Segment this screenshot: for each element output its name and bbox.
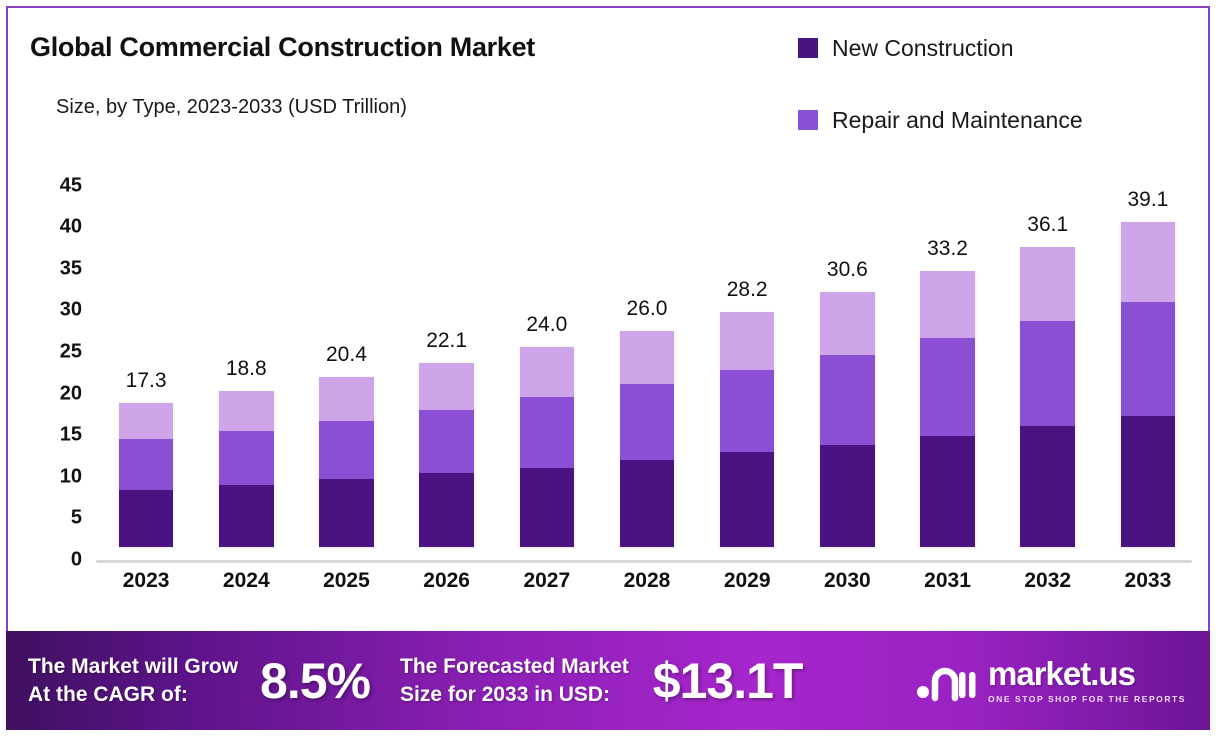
bar-segment-new-construction	[219, 485, 274, 547]
bar-segment-other	[620, 331, 675, 384]
stacked-bar[interactable]	[920, 271, 975, 547]
summary-banner: The Market will Grow At the CAGR of: 8.5…	[6, 631, 1210, 730]
bar-segment-repair-and-maintenance	[219, 431, 274, 485]
bar-segment-repair-and-maintenance	[319, 421, 374, 479]
stacked-bar[interactable]	[419, 363, 474, 547]
stacked-bar[interactable]	[1020, 247, 1075, 547]
y-axis-tick-5: 5	[34, 507, 82, 530]
y-axis-tick-25: 25	[34, 341, 82, 364]
x-axis-tick-2029: 2029	[724, 569, 771, 593]
bar-group-2030[interactable]: 30.62030	[820, 292, 875, 547]
y-axis-tick-40: 40	[34, 216, 82, 239]
bar-segment-other	[720, 312, 775, 369]
bar-group-2029[interactable]: 28.22029	[720, 312, 775, 547]
cagr-caption: The Market will Grow At the CAGR of:	[28, 653, 238, 708]
bar-value-label: 18.8	[226, 357, 267, 381]
bar-segment-repair-and-maintenance	[520, 397, 575, 468]
bar-segment-new-construction	[419, 473, 474, 547]
chart-card: Global Commercial Construction Market Si…	[6, 6, 1210, 631]
bar-value-label: 26.0	[627, 297, 668, 321]
bar-segment-repair-and-maintenance	[119, 439, 174, 490]
bar-value-label: 28.2	[727, 278, 768, 302]
bar-value-label: 17.3	[126, 369, 167, 393]
forecast-caption-line1: The Forecasted Market	[400, 653, 629, 680]
bar-group-2028[interactable]: 26.02028	[620, 331, 675, 547]
x-axis-tick-2030: 2030	[824, 569, 871, 593]
bar-segment-new-construction	[520, 468, 575, 547]
stacked-bar[interactable]	[119, 403, 174, 547]
bar-segment-new-construction	[1121, 416, 1176, 547]
stacked-bar[interactable]	[319, 377, 374, 547]
logo-name: market.us	[988, 657, 1186, 690]
market-us-logo-icon	[916, 659, 976, 703]
x-axis-tick-2026: 2026	[423, 569, 470, 593]
cagr-caption-line2: At the CAGR of:	[28, 681, 238, 708]
logo-tagline: ONE STOP SHOP FOR THE REPORTS	[988, 694, 1186, 704]
x-axis-tick-2032: 2032	[1024, 569, 1071, 593]
bar-segment-new-construction	[620, 460, 675, 547]
stacked-bar[interactable]	[620, 331, 675, 547]
bar-value-label: 22.1	[426, 329, 467, 353]
bar-segment-new-construction	[720, 452, 775, 547]
bar-segment-other	[920, 271, 975, 338]
bar-value-label: 33.2	[927, 237, 968, 261]
bar-segment-new-construction	[920, 436, 975, 547]
cagr-caption-line1: The Market will Grow	[28, 653, 238, 680]
forecast-caption: The Forecasted Market Size for 2033 in U…	[400, 653, 629, 708]
bar-segment-other	[1020, 247, 1075, 321]
y-axis-tick-30: 30	[34, 299, 82, 322]
bar-group-2031[interactable]: 33.22031	[920, 271, 975, 547]
bar-value-label: 39.1	[1127, 188, 1168, 212]
y-axis-tick-0: 0	[34, 549, 82, 572]
bar-segment-other	[520, 347, 575, 397]
y-axis-tick-45: 45	[34, 174, 82, 197]
bar-group-2023[interactable]: 17.32023	[119, 403, 174, 547]
bar-segment-repair-and-maintenance	[720, 370, 775, 452]
y-axis-tick-35: 35	[34, 257, 82, 280]
bar-segment-other	[119, 403, 174, 439]
bar-segment-other	[319, 377, 374, 420]
infographic-root: Global Commercial Construction Market Si…	[0, 0, 1216, 736]
bar-segment-new-construction	[1020, 426, 1075, 547]
bar-value-label: 30.6	[827, 258, 868, 282]
bar-segment-new-construction	[119, 490, 174, 547]
plot-area: 051015202530354045 17.3202318.8202420.42…	[8, 8, 1208, 631]
y-axis-tick-15: 15	[34, 424, 82, 447]
bar-segment-repair-and-maintenance	[419, 410, 474, 473]
forecast-caption-line2: Size for 2033 in USD:	[400, 681, 629, 708]
bar-segment-repair-and-maintenance	[1020, 321, 1075, 426]
cagr-value: 8.5%	[260, 652, 370, 710]
x-axis-tick-2025: 2025	[323, 569, 370, 593]
bar-segment-repair-and-maintenance	[1121, 302, 1176, 416]
stacked-bar[interactable]	[219, 391, 274, 547]
bar-group-2024[interactable]: 18.82024	[219, 391, 274, 547]
stacked-bar[interactable]	[820, 292, 875, 547]
bar-segment-repair-and-maintenance	[920, 338, 975, 435]
bar-group-2027[interactable]: 24.02027	[520, 347, 575, 547]
market-us-logo-text: market.us ONE STOP SHOP FOR THE REPORTS	[988, 657, 1186, 704]
bar-segment-other	[1121, 222, 1176, 302]
stacked-bar[interactable]	[1121, 222, 1176, 547]
bar-segment-other	[820, 292, 875, 354]
bar-segment-new-construction	[820, 445, 875, 547]
y-axis-tick-10: 10	[34, 465, 82, 488]
bar-group-2026[interactable]: 22.12026	[419, 363, 474, 547]
bar-value-label: 36.1	[1027, 213, 1068, 237]
stacked-bar[interactable]	[720, 312, 775, 547]
bar-segment-repair-and-maintenance	[820, 355, 875, 445]
bar-group-2025[interactable]: 20.42025	[319, 377, 374, 547]
x-axis-tick-2024: 2024	[223, 569, 270, 593]
x-axis-tick-2031: 2031	[924, 569, 971, 593]
stacked-bar[interactable]	[520, 347, 575, 547]
x-axis-tick-2028: 2028	[624, 569, 671, 593]
bar-value-label: 24.0	[526, 313, 567, 337]
bar-segment-other	[219, 391, 274, 431]
market-us-logo[interactable]: market.us ONE STOP SHOP FOR THE REPORTS	[916, 657, 1196, 704]
bar-segment-other	[419, 363, 474, 410]
x-axis-tick-2023: 2023	[123, 569, 170, 593]
bar-group-2033[interactable]: 39.12033	[1121, 222, 1176, 547]
bar-series-group: 17.3202318.8202420.4202522.1202624.02027…	[96, 8, 1198, 631]
x-axis-tick-2033: 2033	[1125, 569, 1172, 593]
y-axis-tick-20: 20	[34, 382, 82, 405]
bar-segment-new-construction	[319, 479, 374, 547]
x-axis-tick-2027: 2027	[523, 569, 570, 593]
forecast-value: $13.1T	[653, 652, 803, 710]
bar-value-label: 20.4	[326, 343, 367, 367]
bar-group-2032[interactable]: 36.12032	[1020, 247, 1075, 547]
bar-segment-repair-and-maintenance	[620, 384, 675, 460]
